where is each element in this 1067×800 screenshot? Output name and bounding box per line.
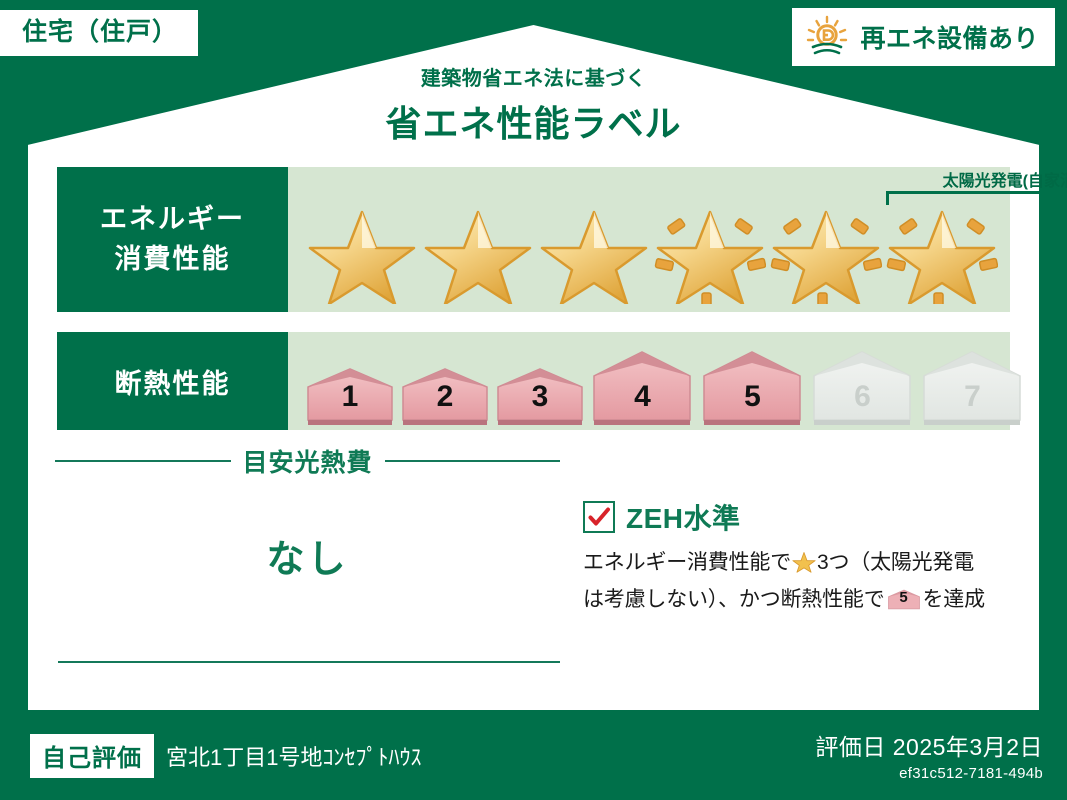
house-grade-6-number: 6	[809, 380, 916, 414]
star-icon	[422, 200, 534, 304]
solar-annotation-caption: 太陽光発電(自家消費)分	[848, 167, 1067, 191]
row-energy-performance: エネルギー 消費性能 太陽光発電(自家消費)分	[57, 167, 1010, 312]
house-grade-2: 2	[399, 363, 491, 426]
house-grade-5-number: 5	[699, 380, 806, 414]
house-grade-3: 3	[494, 363, 586, 426]
row-energy-label-line2: 消費性能	[115, 244, 231, 274]
solar-sun-icon	[804, 14, 850, 60]
row-insulation-performance: 断熱性能 1	[57, 332, 1010, 430]
house-grade-6: 6	[809, 346, 916, 426]
utility-cost-title: 目安光熱費	[243, 443, 373, 479]
house-grade-7-number: 7	[919, 380, 1026, 414]
utility-cost-bottom-divider	[58, 661, 560, 663]
zeh-title: ZEH水準	[626, 497, 741, 537]
label-title-block: 建築物省エネ法に基づく 省エネ性能ラベル	[0, 62, 1067, 147]
house-grade-4: 4	[589, 346, 696, 426]
row-insulation-body: 1 2 3	[288, 332, 1010, 430]
star-icon	[306, 200, 418, 304]
utility-cost-value: なし	[55, 528, 560, 583]
check-icon	[583, 501, 615, 533]
star-icon	[792, 555, 816, 578]
star-icon-solar	[886, 200, 998, 304]
house-grade-icon: 5	[887, 587, 921, 612]
footer-property-name: 宮北1丁目1号地ｺﾝｾﾌﾟﾄﾊｳｽ	[166, 740, 421, 772]
star-icon-solar	[654, 200, 766, 304]
row-energy-label-line1: エネルギー	[100, 204, 245, 234]
zeh-desc-part4: を達成	[923, 588, 985, 611]
zeh-desc-part3: は考慮しない）、かつ断熱性能で	[583, 588, 885, 611]
footer-left: 自己評価 宮北1丁目1号地ｺﾝｾﾌﾟﾄﾊｳｽ	[30, 734, 421, 778]
house-grade-3-number: 3	[494, 380, 586, 414]
divider-left	[55, 460, 231, 462]
insulation-grade-group: 1 2 3	[288, 346, 1010, 426]
zeh-standard-block: ZEH水準 エネルギー消費性能で 3つ（太陽光発電は考慮しない）、かつ断熱性能で…	[583, 497, 1023, 616]
house-grade-2-number: 2	[399, 380, 491, 414]
house-grade-1: 1	[304, 363, 396, 426]
energy-label-root: 住宅（住戸） 再エネ設備	[0, 0, 1067, 800]
title-subtitle: 建築物省エネ法に基づく	[0, 62, 1067, 91]
badge-renewable-label: 再エネ設備あり	[860, 19, 1039, 55]
house-grade-7: 7	[919, 346, 1026, 426]
house-grade-4-number: 4	[589, 380, 696, 414]
title-main: 省エネ性能ラベル	[0, 95, 1067, 147]
row-energy-label: エネルギー 消費性能	[57, 167, 288, 312]
star-icon-solar	[770, 200, 882, 304]
house-grade-1-number: 1	[304, 380, 396, 414]
row-insulation-label: 断熱性能	[57, 332, 288, 430]
star-icon	[538, 200, 650, 304]
house-grade-icon-number: 5	[887, 586, 921, 609]
footer-label-id: ef31c512-7181-494b	[815, 765, 1043, 782]
row-energy-body: 太陽光発電(自家消費)分	[288, 167, 1010, 312]
footer-right: 評価日 2025年3月2日 ef31c512-7181-494b	[815, 728, 1043, 782]
utility-cost-header: 目安光熱費	[55, 443, 560, 479]
zeh-desc-part2: 3つ（太陽光発電	[817, 551, 974, 574]
zeh-header: ZEH水準	[583, 497, 1023, 537]
star-rating-group	[288, 200, 1010, 304]
zeh-description: エネルギー消費性能で 3つ（太陽光発電は考慮しない）、かつ断熱性能で 5を達成	[583, 547, 1023, 616]
badge-building-type: 住宅（住戸）	[0, 10, 198, 56]
house-grade-5: 5	[699, 346, 806, 426]
badge-self-evaluation: 自己評価	[30, 734, 154, 778]
divider-right	[385, 460, 561, 462]
badge-renewable-equipment: 再エネ設備あり	[792, 8, 1055, 66]
footer-evaluation-date: 評価日 2025年3月2日	[815, 728, 1043, 762]
zeh-desc-part1: エネルギー消費性能で	[583, 551, 791, 574]
